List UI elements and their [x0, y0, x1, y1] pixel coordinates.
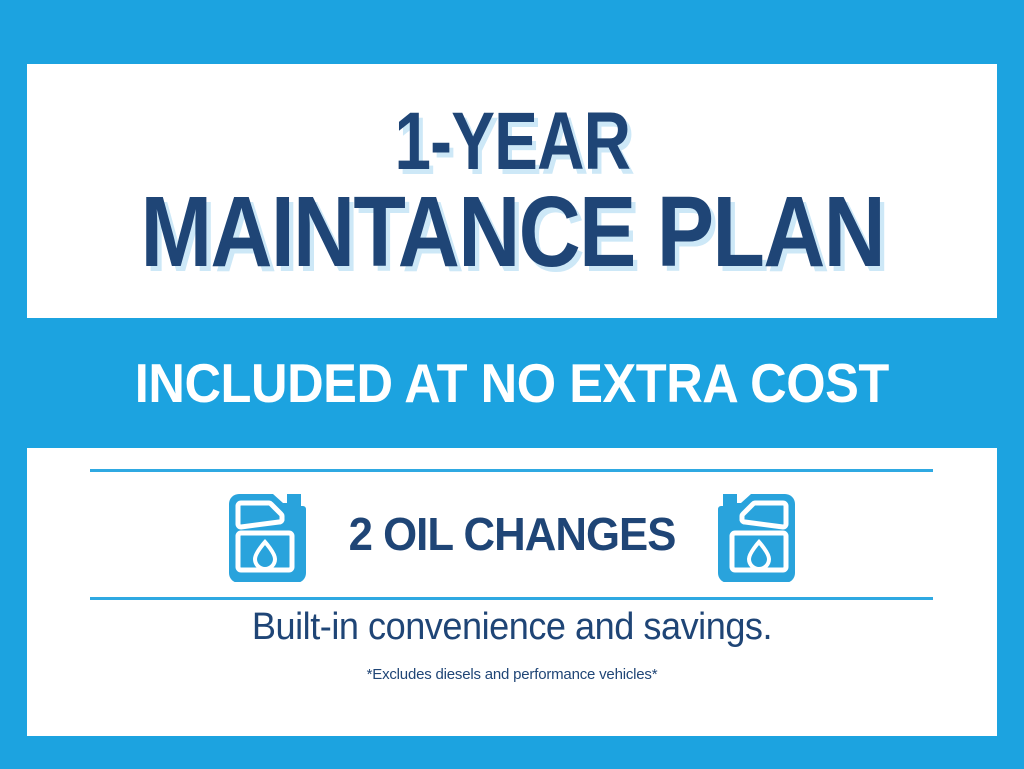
subtitle-band: INCLUDED AT NO EXTRA COST: [0, 318, 1024, 448]
offer-title: 2 OIL CHANGES: [349, 507, 676, 561]
offer-fineprint: *Excludes diesels and performance vehicl…: [27, 666, 997, 683]
offer-card: 2 OIL CHANGES Built-in convenience and s…: [27, 448, 997, 736]
divider-top: [90, 469, 933, 472]
divider-bottom: [90, 597, 933, 600]
offer-tagline: Built-in convenience and savings.: [51, 606, 973, 649]
offer-row: 2 OIL CHANGES: [27, 481, 997, 587]
promo-poster: 1-YEAR MAINTANCE PLAN INCLUDED AT NO EXT…: [0, 0, 1024, 769]
headline-line-1: 1-YEAR: [394, 104, 630, 179]
headline-card: 1-YEAR MAINTANCE PLAN: [27, 64, 997, 318]
headline-line-2: MAINTANCE PLAN: [140, 186, 883, 278]
oil-jug-icon-right: [718, 486, 796, 582]
oil-jug-icon-left: [228, 486, 306, 582]
subtitle-text: INCLUDED AT NO EXTRA COST: [135, 351, 889, 415]
